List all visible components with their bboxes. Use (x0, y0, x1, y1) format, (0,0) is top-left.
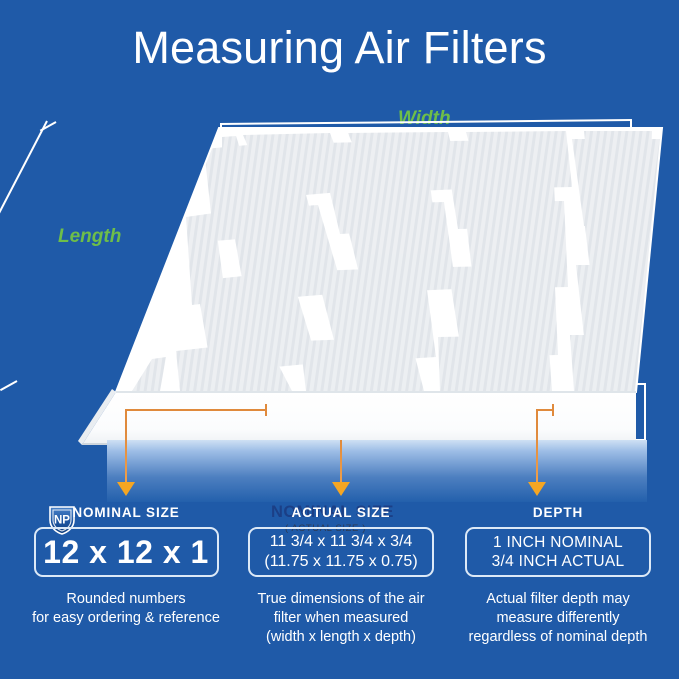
depth-value-line: 1 INCH NOMINAL (493, 533, 623, 552)
air-filter-illustration (0, 105, 679, 475)
description-line: Rounded numbers (14, 590, 238, 609)
description-line: (width x length x depth) (238, 628, 444, 647)
column-nominal-size: NOMINAL SIZE 12 x 12 x 1 Rounded numbers… (10, 505, 242, 628)
column-description: True dimensions of the air filter when m… (234, 590, 448, 647)
arrow-line-depth (536, 432, 538, 484)
description-line: Actual filter depth may (448, 590, 668, 609)
depth-value-line: 3/4 INCH ACTUAL (492, 552, 625, 571)
infographic-page: Measuring Air Filters Width Length Depth (0, 0, 679, 679)
nominal-size-value: 12 x 12 x 1 (43, 534, 209, 571)
nominal-leader-tick-left (125, 409, 127, 432)
arrow-head-actual (332, 482, 350, 496)
page-title: Measuring Air Filters (0, 22, 679, 74)
description-line: True dimensions of the air (238, 590, 444, 609)
column-description: Rounded numbers for easy ordering & refe… (10, 590, 242, 628)
description-line: for easy ordering & reference (14, 609, 238, 628)
description-line: measure differently (448, 609, 668, 628)
filter-svg (0, 105, 679, 475)
filter-diagram: Width Length Depth (0, 105, 679, 475)
column-heading: DEPTH (444, 505, 672, 520)
arrow-head-depth (528, 482, 546, 496)
description-line: regardless of nominal depth (448, 628, 668, 647)
actual-size-value-box: 11 3/4 x 11 3/4 x 3/4 (11.75 x 11.75 x 0… (248, 527, 434, 577)
depth-value-box: 1 INCH NOMINAL 3/4 INCH ACTUAL (465, 527, 651, 577)
column-heading: ACTUAL SIZE (234, 505, 448, 520)
summary-columns: NOMINAL SIZE 12 x 12 x 1 Rounded numbers… (0, 505, 679, 679)
arrow-head-nominal (117, 482, 135, 496)
depth-leader-tick (552, 404, 554, 416)
actual-size-value-line: 11 3/4 x 11 3/4 x 3/4 (270, 532, 413, 552)
column-description: Actual filter depth may measure differen… (444, 590, 672, 647)
arrow-line-nominal (125, 432, 127, 484)
gradient-fade-band (107, 440, 647, 502)
nominal-leader-line (125, 409, 267, 411)
description-line: filter when measured (238, 609, 444, 628)
column-heading: NOMINAL SIZE (10, 505, 242, 520)
nominal-size-value-box: 12 x 12 x 1 (34, 527, 219, 577)
depth-leader-tick-left (536, 409, 538, 432)
column-actual-size: ACTUAL SIZE 11 3/4 x 11 3/4 x 3/4 (11.75… (234, 505, 448, 647)
column-depth: DEPTH 1 INCH NOMINAL 3/4 INCH ACTUAL Act… (444, 505, 672, 647)
arrow-line-actual (340, 440, 342, 484)
actual-size-value-line: (11.75 x 11.75 x 0.75) (264, 552, 417, 572)
nominal-leader-tick-right (265, 404, 267, 416)
